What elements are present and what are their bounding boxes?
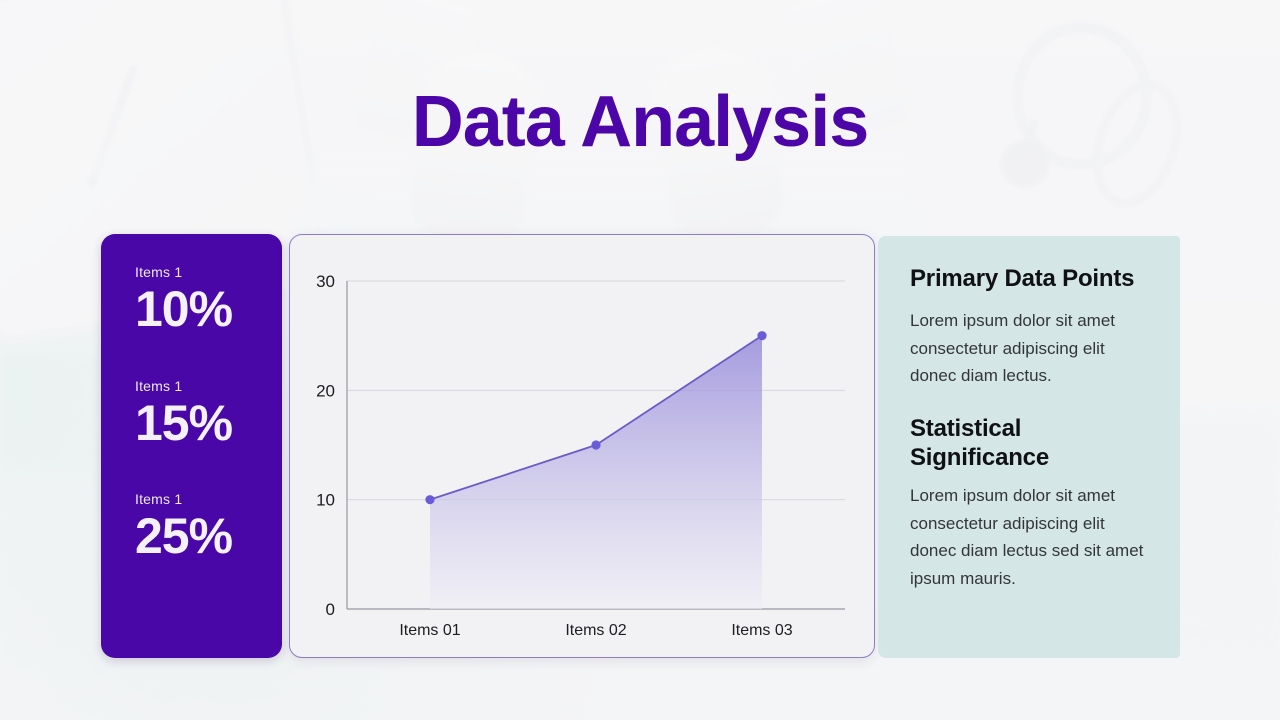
x-tick-label: Items 02 — [565, 622, 626, 639]
stat-label: Items 1 — [135, 491, 282, 507]
y-tick-label: 20 — [316, 381, 335, 400]
stat-label: Items 1 — [135, 264, 282, 280]
stat-value: 25% — [135, 510, 282, 563]
info-heading: Primary Data Points — [910, 264, 1150, 293]
info-panel: Primary Data Points Lorem ipsum dolor si… — [878, 236, 1180, 658]
stat-value: 10% — [135, 283, 282, 336]
y-tick-label: 30 — [316, 272, 335, 291]
chart-y-tick-labels: 0102030 — [316, 272, 335, 619]
stat-item: Items 1 15% — [101, 378, 282, 450]
stat-label: Items 1 — [135, 378, 282, 394]
info-body: Lorem ipsum dolor sit amet consectetur a… — [910, 307, 1150, 390]
slide-root: Data Analysis Items 1 10% Items 1 15% It… — [0, 0, 1280, 720]
info-block-statistical-significance: Statistical Significance Lorem ipsum dol… — [910, 414, 1150, 593]
x-tick-label: Items 03 — [731, 622, 792, 639]
info-body: Lorem ipsum dolor sit amet consectetur a… — [910, 482, 1150, 592]
x-tick-label: Items 01 — [399, 622, 460, 639]
y-tick-label: 10 — [316, 491, 335, 510]
area-chart: 0102030 Items 01Items 02Items 03 — [290, 235, 873, 656]
info-block-primary-data-points: Primary Data Points Lorem ipsum dolor si… — [910, 264, 1150, 390]
y-tick-label: 0 — [326, 600, 335, 619]
stat-value: 15% — [135, 397, 282, 450]
chart-card: 0102030 Items 01Items 02Items 03 — [289, 234, 875, 658]
page-title: Data Analysis — [0, 86, 1280, 158]
chart-area-fill — [430, 336, 762, 609]
stat-card: Items 1 10% Items 1 15% Items 1 25% — [101, 234, 282, 658]
chart-x-tick-labels: Items 01Items 02Items 03 — [399, 622, 792, 639]
stat-item: Items 1 10% — [101, 264, 282, 336]
info-heading: Statistical Significance — [910, 414, 1150, 473]
stat-item: Items 1 25% — [101, 491, 282, 563]
